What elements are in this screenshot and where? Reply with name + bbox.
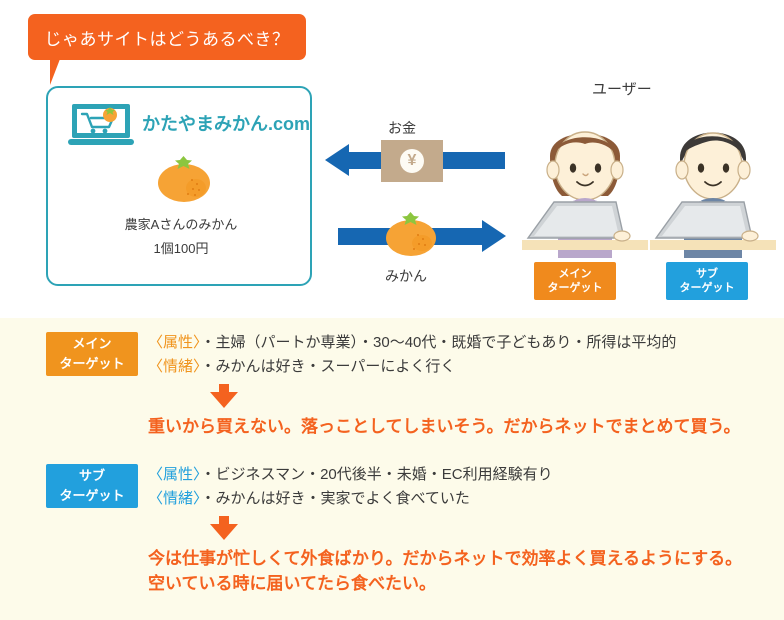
yen-symbol: ¥	[400, 149, 424, 173]
tag-sub-target: サブ ターゲット	[46, 464, 138, 508]
users-title: ユーザー	[592, 78, 652, 99]
site-name: かたやまみかん.com	[142, 110, 310, 136]
persona-main-conclusion: 重いから買えない。落っことしてしまいそう。だからネットでまとめて買う。	[148, 414, 740, 439]
persona-main-attribute-key: 〈属性〉	[148, 334, 201, 351]
sub-down-arrow-stem	[219, 516, 229, 524]
badge-sub-line2: ターゲット	[680, 281, 735, 295]
speech-bubble: じゃあサイトはどうあるべき？	[28, 14, 306, 60]
persona-sub-attribute-value: ・ビジネスマン・20代後半・未婚・EC利用経験有り	[201, 466, 553, 483]
diagram-canvas: じゃあサイトはどうあるべき？ かたやまみかん.com	[0, 0, 784, 620]
lower-panel: メイン ターゲット 〈属性〉・主婦（パートか専業）・30〜40代・既婚で子どもあ…	[0, 318, 784, 620]
speech-bubble-text: じゃあサイトはどうあるべき？	[28, 14, 306, 60]
badge-sub-line1: サブ	[696, 267, 718, 281]
tag-main-line1: メイン	[72, 334, 111, 354]
mikan-arrow-head	[482, 220, 506, 252]
badge-main-line2: ターゲット	[548, 281, 603, 295]
tag-main-line2: ターゲット	[59, 354, 124, 374]
persona-sub-emotion-value: ・みかんは好き・実家でよく食べていた	[201, 490, 470, 507]
site-card: かたやまみかん.com 農家Aさんのみかん 1個100円	[46, 86, 312, 286]
sub-down-arrow	[210, 524, 238, 540]
speech-bubble-tail	[50, 59, 74, 85]
persona-main-emotion-key: 〈情緒〉	[148, 358, 201, 375]
persona-sub-emotion-line: 〈情緒〉・みかんは好き・実家でよく食べていた	[148, 488, 470, 510]
money-label: お金	[388, 118, 416, 138]
mikan-icon	[156, 156, 212, 204]
persona-main-emotion-value: ・みかんは好き・スーパーによく行く	[201, 358, 456, 375]
badge-main-line1: メイン	[559, 267, 592, 281]
user-illustration-man	[648, 108, 778, 258]
persona-main-attribute-value: ・主婦（パートか専業）・30〜40代・既婚で子どもあり・所得は平均的	[201, 334, 677, 351]
persona-main-emotion-line: 〈情緒〉・みかんは好き・スーパーによく行く	[148, 356, 455, 378]
badge-sub-target-top: サブ ターゲット	[666, 262, 748, 300]
persona-sub-conclusion-line2: 空いている時に届いてたら食べたい。	[148, 571, 436, 596]
persona-sub-conclusion-line1: 今は仕事が忙しくて外食ばかり。だからネットで効率よく買えるようにする。	[148, 546, 742, 571]
money-bill-icon: ¥	[381, 140, 443, 182]
money-arrow-head	[325, 144, 349, 176]
main-down-arrow	[210, 392, 238, 408]
yen-symbol-wrap: ¥	[381, 140, 443, 182]
persona-sub-emotion-key: 〈情緒〉	[148, 490, 201, 507]
laptop-cart-icon	[68, 102, 134, 148]
tag-sub-line1: サブ	[79, 466, 105, 486]
mikan-flow-icon	[384, 212, 438, 258]
persona-sub-attribute-key: 〈属性〉	[148, 466, 201, 483]
main-down-arrow-stem	[219, 384, 229, 392]
mikan-label: みかん	[385, 266, 427, 286]
tag-main-target: メイン ターゲット	[46, 332, 138, 376]
persona-main-attribute-line: 〈属性〉・主婦（パートか専業）・30〜40代・既婚で子どもあり・所得は平均的	[148, 332, 676, 354]
persona-sub-attribute-line: 〈属性〉・ビジネスマン・20代後半・未婚・EC利用経験有り	[148, 464, 553, 486]
product-price: 1個100円	[48, 238, 314, 257]
product-name: 農家Aさんのみかん	[48, 214, 314, 233]
tag-sub-line2: ターゲット	[59, 486, 124, 506]
upper-panel: じゃあサイトはどうあるべき？ かたやまみかん.com	[0, 0, 784, 318]
badge-main-target-top: メイン ターゲット	[534, 262, 616, 300]
user-illustration-woman	[520, 108, 650, 258]
